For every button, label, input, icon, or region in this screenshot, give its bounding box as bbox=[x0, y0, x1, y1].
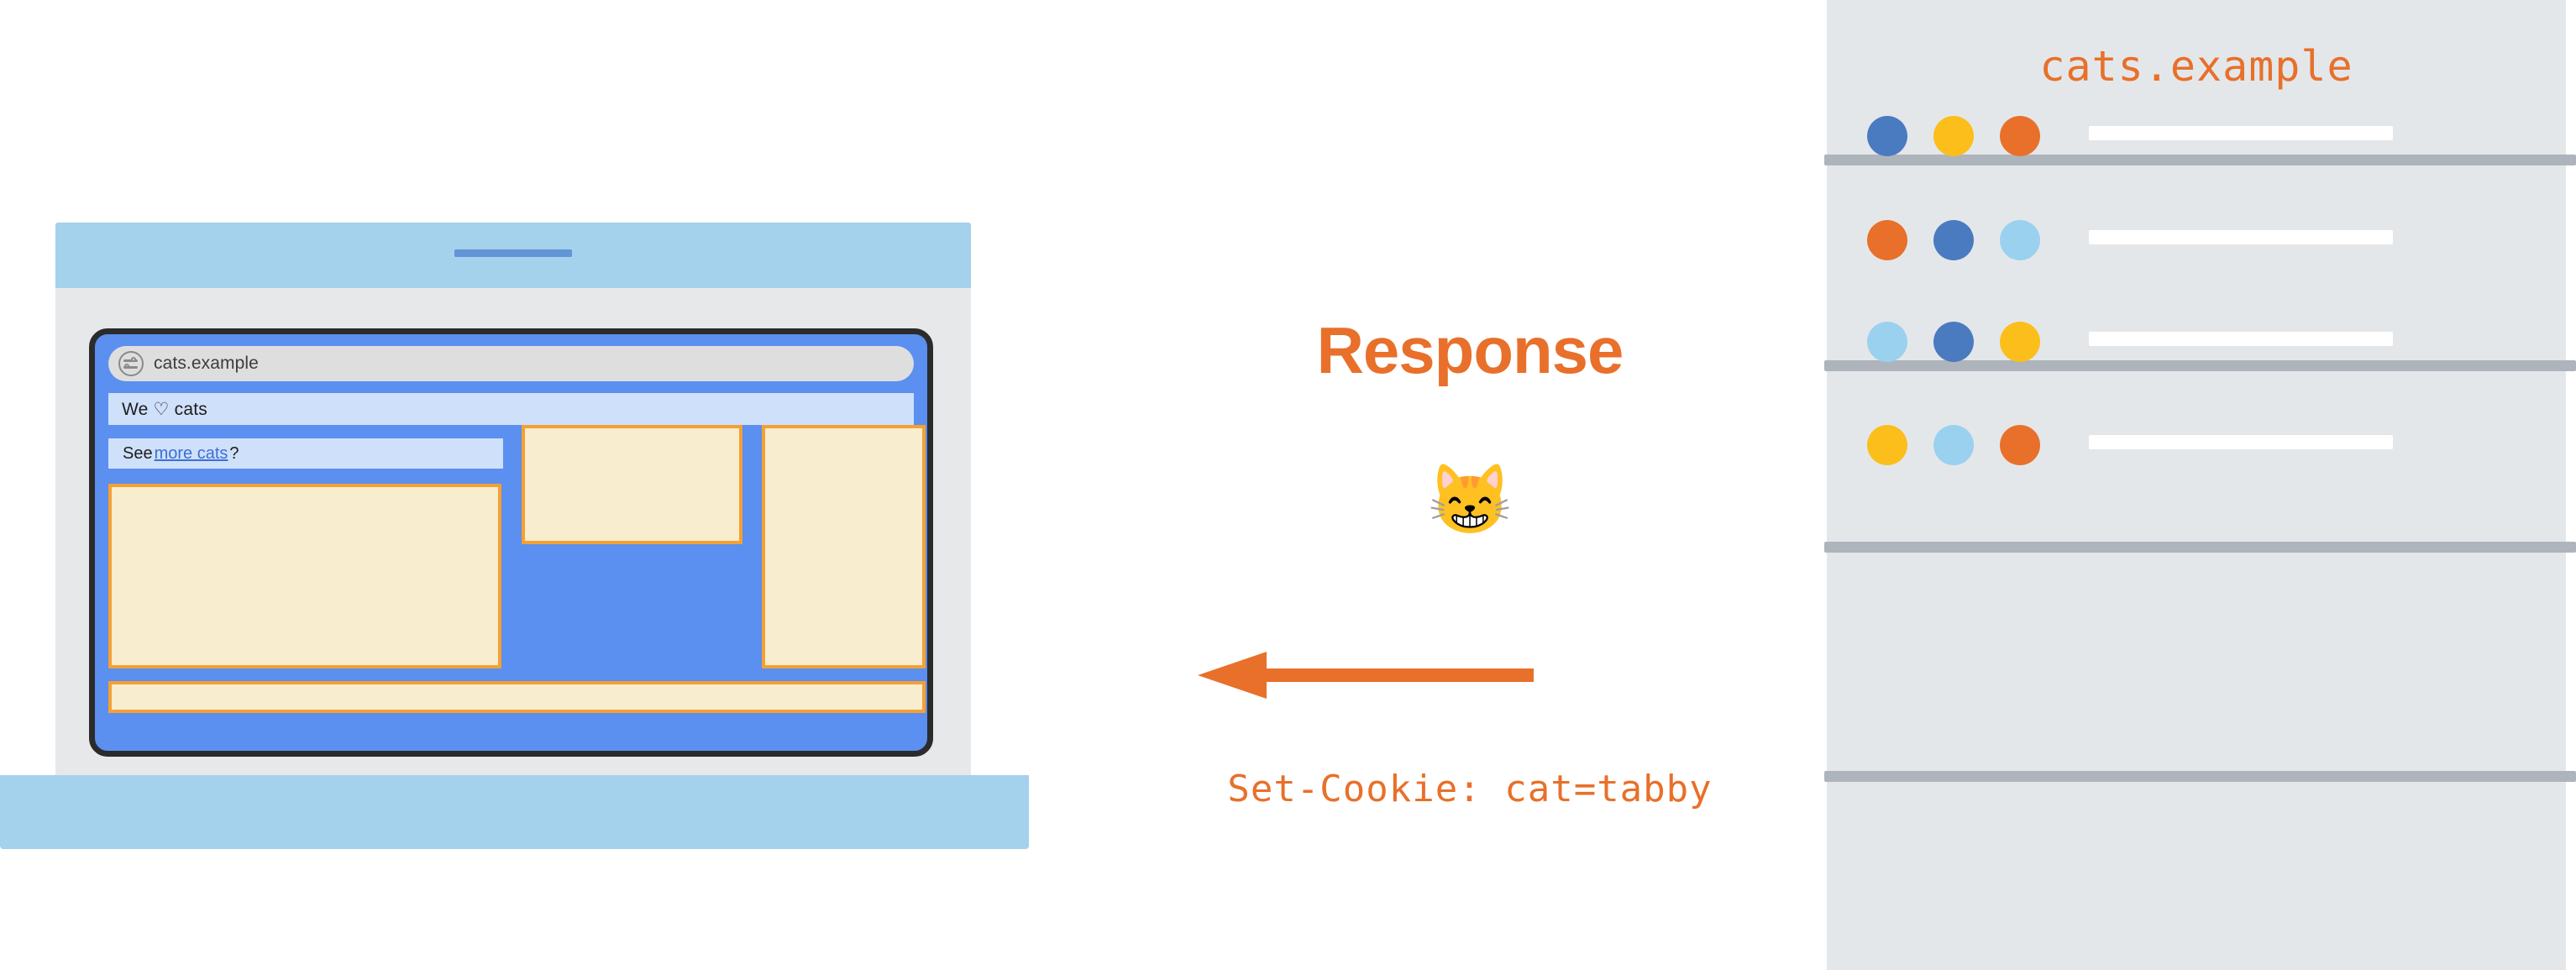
server-row bbox=[1827, 198, 2566, 282]
server-dot bbox=[2000, 116, 2040, 156]
server-dot bbox=[1933, 220, 1974, 260]
server-dot bbox=[2000, 425, 2040, 465]
server-dot bbox=[1867, 322, 1907, 362]
server-row-line bbox=[2089, 126, 2393, 140]
footer-content-strip bbox=[108, 681, 926, 713]
server-dot bbox=[1933, 322, 1974, 362]
server-separator bbox=[1824, 771, 2576, 782]
secondary-content-tile bbox=[522, 425, 742, 544]
set-cookie-header: Set-Cookie: cat=tabby bbox=[1092, 768, 1848, 810]
response-flow-column: Response 😸 Set-Cookie: cat=tabby bbox=[1092, 0, 1848, 970]
server-row bbox=[1827, 94, 2566, 178]
server-separator bbox=[1824, 542, 2576, 553]
server-dot bbox=[1933, 425, 1974, 465]
tune-knob-top bbox=[131, 357, 136, 362]
server-row-line bbox=[2089, 435, 2393, 449]
laptop-camera-mark bbox=[454, 249, 572, 257]
diagram-canvas: cats.example We ♡ cats See more cats? Re… bbox=[0, 0, 2576, 970]
laptop-base bbox=[0, 775, 1029, 849]
page-content-grid bbox=[108, 469, 914, 721]
more-cats-link[interactable]: more cats bbox=[155, 444, 228, 464]
server-row-line bbox=[2089, 332, 2393, 346]
server-dot bbox=[1867, 425, 1907, 465]
laptop-illustration: cats.example We ♡ cats See more cats? bbox=[0, 223, 1050, 920]
laptop-lid-top bbox=[55, 223, 971, 290]
browser-window: cats.example We ♡ cats See more cats? bbox=[89, 328, 933, 757]
sidebar-content-block bbox=[762, 425, 926, 669]
page-banner: We ♡ cats bbox=[108, 393, 914, 425]
server-title: cats.example bbox=[1827, 42, 2566, 91]
link-row-suffix: ? bbox=[229, 444, 239, 464]
server-row bbox=[1827, 300, 2566, 384]
url-text: cats.example bbox=[154, 354, 259, 374]
server-panel: cats.example bbox=[1827, 0, 2566, 970]
left-arrow-icon bbox=[1198, 648, 1534, 702]
server-dot bbox=[1933, 116, 1974, 156]
server-dot bbox=[2000, 322, 2040, 362]
response-title: Response bbox=[1092, 312, 1848, 389]
server-row bbox=[1827, 403, 2566, 487]
server-dot bbox=[2000, 220, 2040, 260]
page-banner-text: We ♡ cats bbox=[122, 399, 207, 420]
page-link-row: See more cats? bbox=[108, 438, 503, 469]
link-row-prefix: See bbox=[123, 444, 153, 464]
grinning-cat-emoji: 😸 bbox=[1092, 466, 1848, 535]
tune-knob-bottom bbox=[124, 364, 129, 369]
tune-sliders-icon bbox=[118, 351, 144, 376]
server-row-line bbox=[2089, 230, 2393, 244]
server-dot bbox=[1867, 116, 1907, 156]
server-dot bbox=[1867, 220, 1907, 260]
browser-url-bar[interactable]: cats.example bbox=[108, 346, 914, 381]
primary-content-block bbox=[108, 484, 501, 669]
